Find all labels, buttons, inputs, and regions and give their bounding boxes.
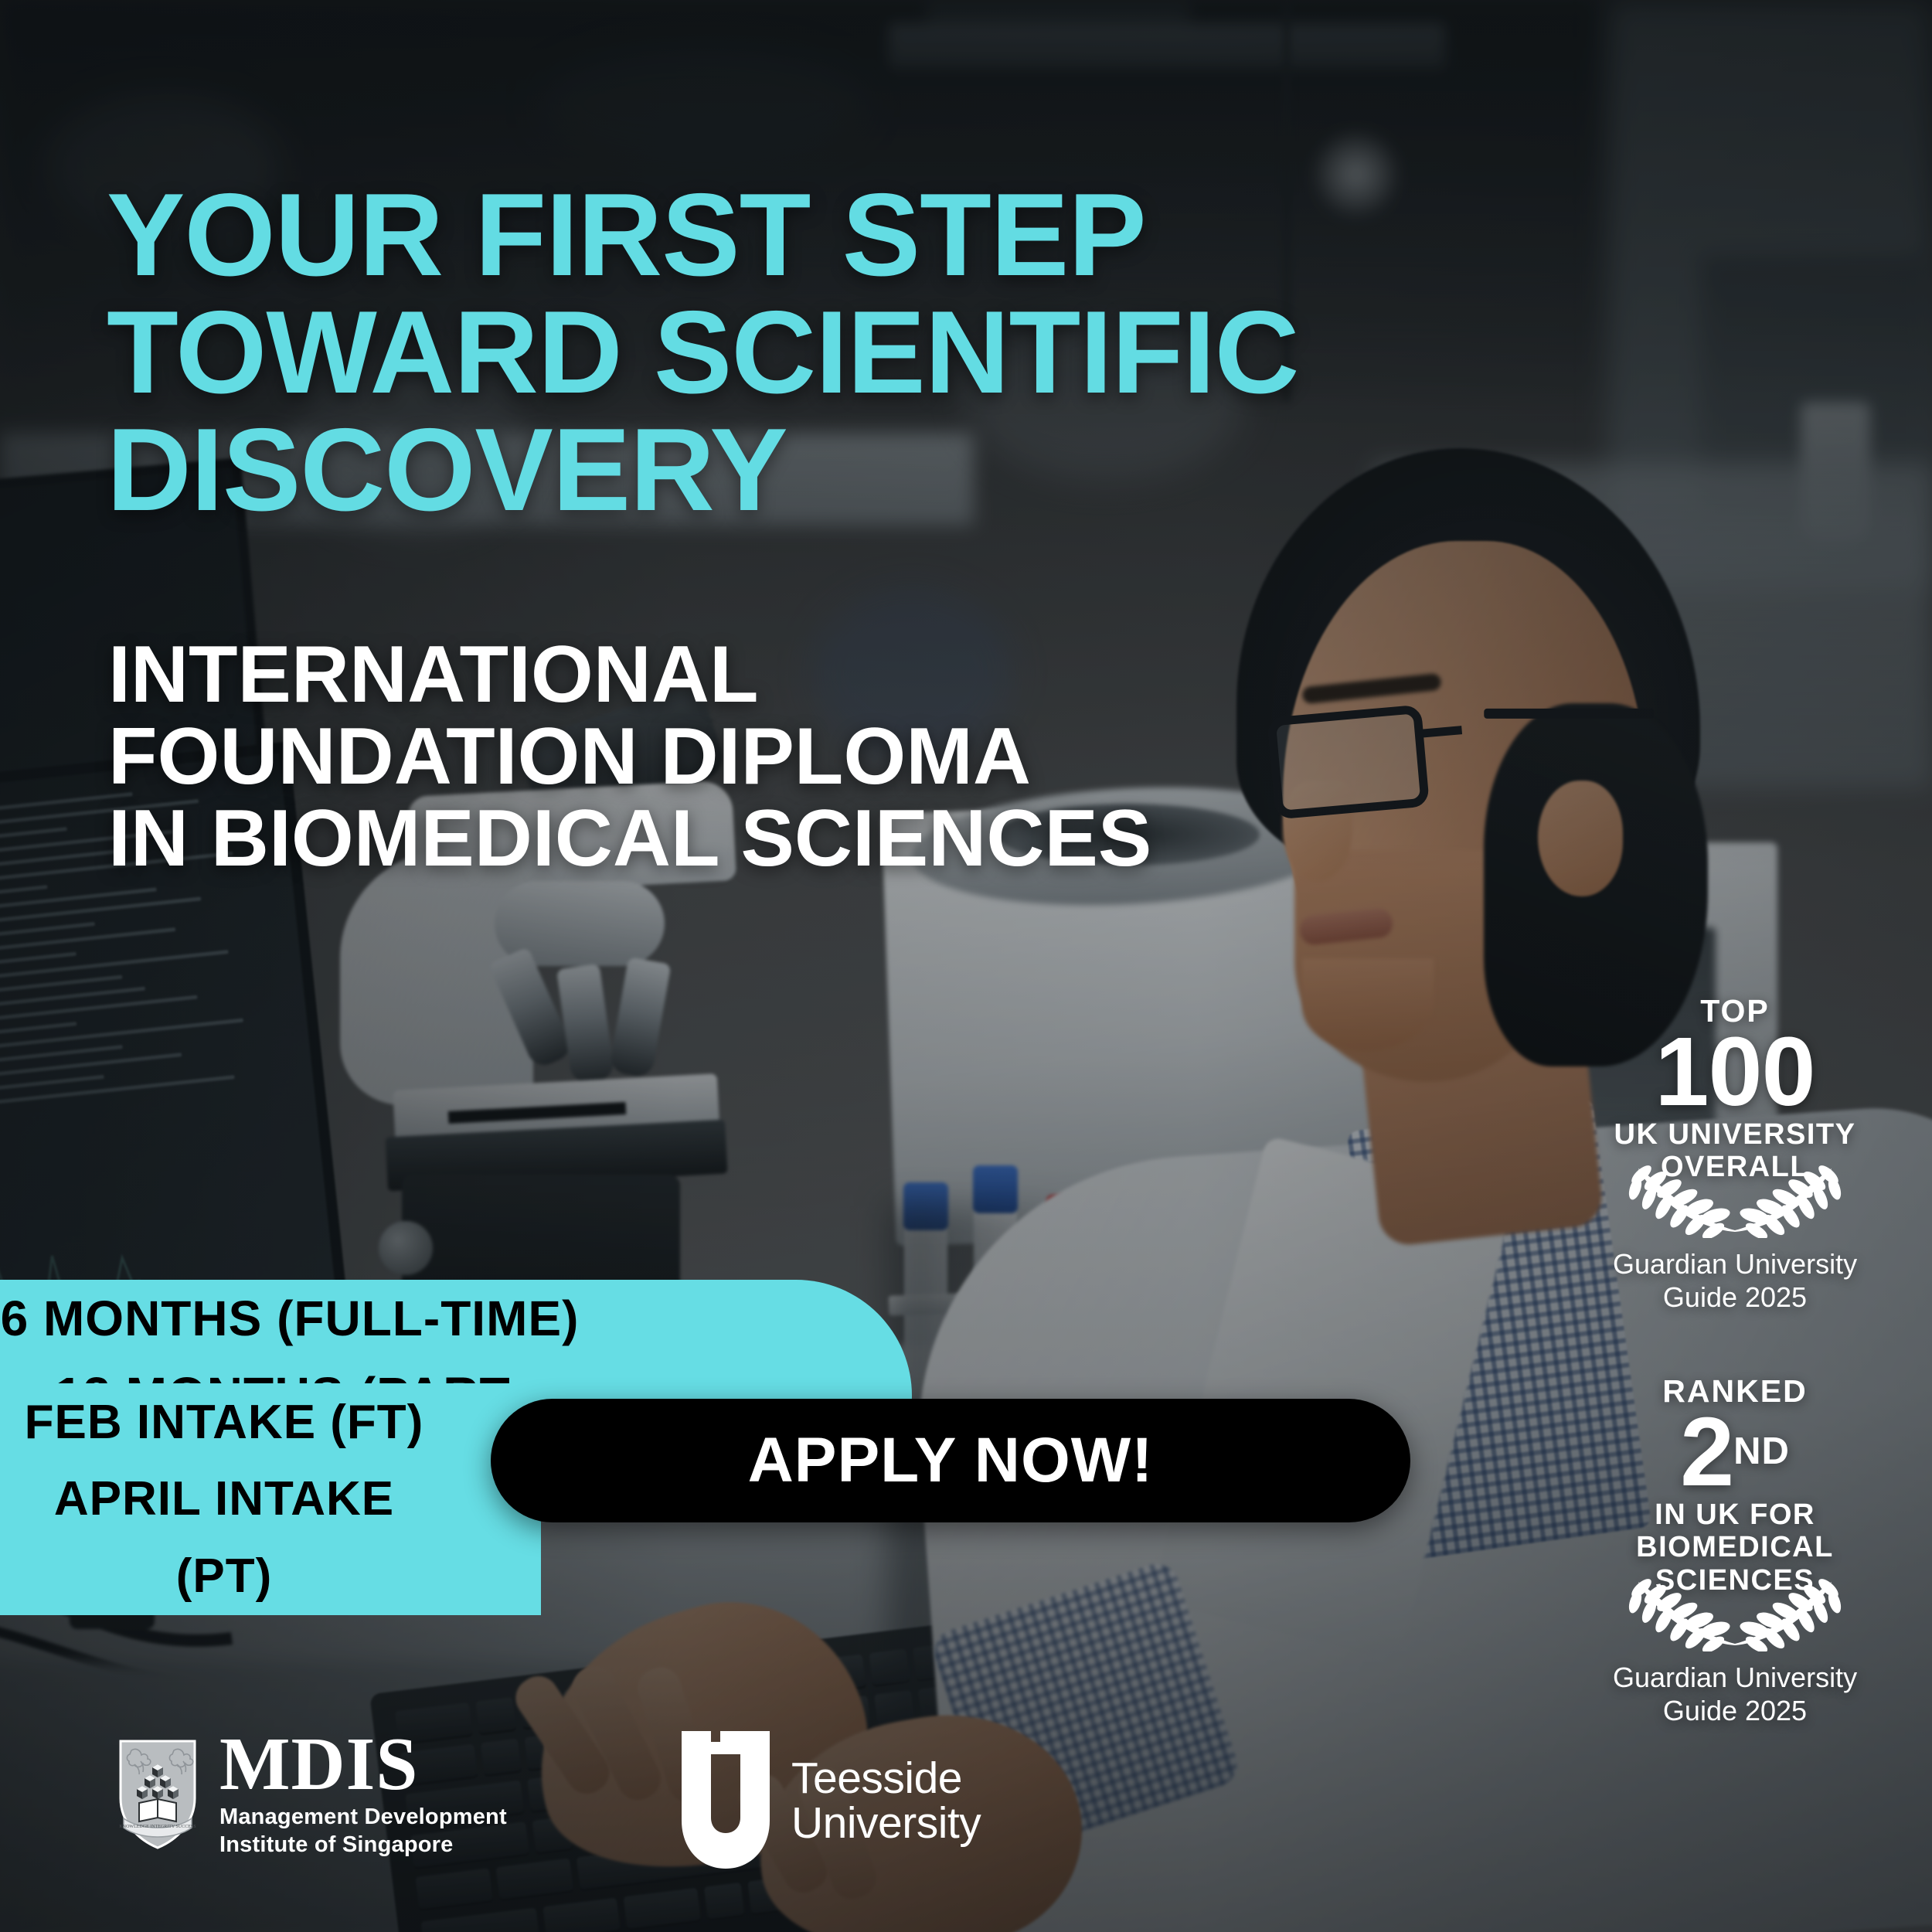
badge-1-number: 100	[1565, 1027, 1905, 1117]
laurel-wreath-icon	[1565, 1164, 1905, 1238]
intake-parttime: APRIL INTAKE (PT)	[0, 1461, 541, 1614]
mdis-tagline-line-1: Management Development	[219, 1803, 507, 1831]
subheadline-line-3: IN BIOMEDICAL SCIENCES	[108, 798, 1422, 879]
duration-fulltime: 6 MONTHS (FULL-TIME)	[0, 1281, 912, 1357]
intake-badge: FEB INTAKE (FT) APRIL INTAKE (PT)	[0, 1383, 541, 1615]
badge-1-source-line-1: Guardian University	[1565, 1247, 1905, 1281]
page-title: YOUR FIRST STEP TOWARD SCIENTIFIC DISCOV…	[107, 176, 1498, 529]
headline-line-1: YOUR FIRST STEP	[107, 176, 1498, 294]
badge-2-prefix: RANKED	[1565, 1376, 1905, 1407]
laurel-wreath-icon	[1565, 1577, 1905, 1651]
mdis-crest-icon: KNOWLEDGE INTEGRITY SUCCESS	[116, 1738, 199, 1851]
badge-2-desc-line-1: IN UK FOR BIOMEDICAL	[1565, 1498, 1905, 1564]
badge-2-ordinal: ND	[1733, 1430, 1790, 1472]
mdis-tagline-line-2: Institute of Singapore	[219, 1831, 507, 1859]
apply-now-label: APPLY NOW!	[748, 1424, 1154, 1497]
teesside-u-logo-icon	[680, 1731, 771, 1870]
intake-fulltime: FEB INTAKE (FT)	[0, 1384, 541, 1461]
teesside-name-line-1: Teesside	[791, 1756, 981, 1801]
apply-now-button[interactable]: APPLY NOW!	[491, 1399, 1410, 1522]
badge-1-desc-line-1: UK UNIVERSITY	[1565, 1118, 1905, 1151]
promo-poster: YOUR FIRST STEP TOWARD SCIENTIFIC DISCOV…	[0, 0, 1932, 1932]
subheadline-line-2: FOUNDATION DIPLOMA	[108, 716, 1422, 798]
headline-line-3: DISCOVERY	[107, 411, 1498, 529]
teesside-name-line-2: University	[791, 1801, 981, 1845]
svg-text:KNOWLEDGE INTEGRITY SUCCESS: KNOWLEDGE INTEGRITY SUCCESS	[119, 1825, 196, 1829]
mdis-acronym: MDIS	[219, 1730, 507, 1798]
mdis-logo: KNOWLEDGE INTEGRITY SUCCESS MDIS Managem…	[116, 1730, 507, 1859]
award-badge-top-100: TOP 100 UK UNIVERSITY OVERALL	[1565, 995, 1905, 1314]
badge-2-source-line-1: Guardian University	[1565, 1661, 1905, 1694]
badge-1-source-line-2: Guide 2025	[1565, 1281, 1905, 1314]
headline-line-2: TOWARD SCIENTIFIC	[107, 294, 1498, 411]
award-badge-ranked-2nd: RANKED 2ND IN UK FOR BIOMEDICAL SCIENCES	[1565, 1376, 1905, 1727]
badge-2-number: 2	[1680, 1397, 1733, 1506]
subheadline-line-1: INTERNATIONAL	[108, 634, 1422, 716]
badge-2-source-line-2: Guide 2025	[1565, 1694, 1905, 1727]
programme-name: INTERNATIONAL FOUNDATION DIPLOMA IN BIOM…	[108, 634, 1422, 879]
teesside-logo: Teesside University	[680, 1731, 981, 1870]
